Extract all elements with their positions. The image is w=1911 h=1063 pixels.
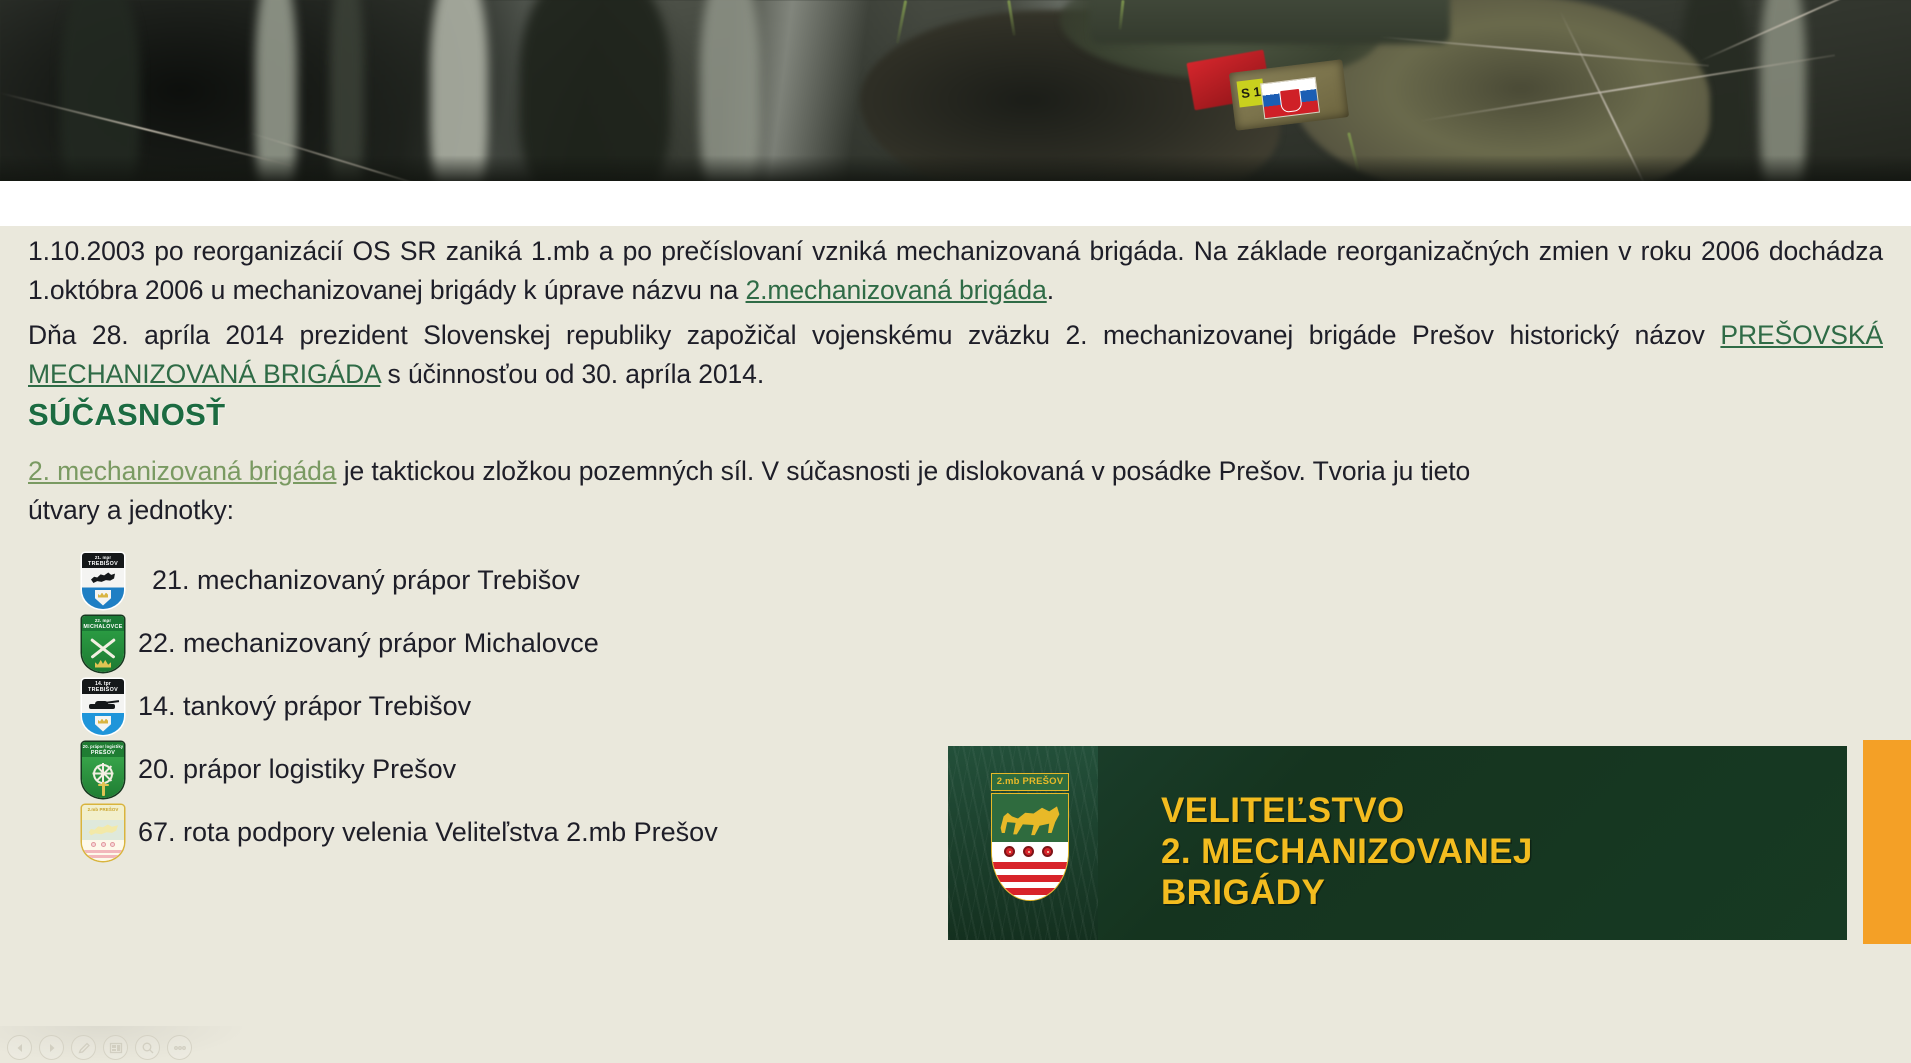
tree-trunk xyxy=(700,0,760,181)
hero-content-separator xyxy=(0,181,1911,226)
banner-veliteľstvo-2mb[interactable]: 2.mb PREŠOV VELITEĽSTVO 2. MECHANIZOVANE… xyxy=(948,746,1847,940)
paragraph-1-text-part-2: . xyxy=(1047,275,1054,305)
crest-icon xyxy=(95,716,111,732)
cog-wheel-icon xyxy=(93,764,113,784)
badge-21-mpr-trebisov-icon: 21. mprTREBIŠOV xyxy=(82,553,124,609)
link-2-mechanizovana-brigada-present[interactable]: 2. mechanizovaná brigáda xyxy=(28,456,336,486)
badge-22-mpr-michalovce-icon: 22. mprMICHALOVCE xyxy=(82,616,124,672)
more-icon[interactable] xyxy=(167,1035,192,1060)
banner-title-line-1: VELITEĽSTVO xyxy=(1161,790,1533,831)
tree-trunk xyxy=(60,0,140,181)
accent-orange-strip xyxy=(1863,740,1911,944)
badge-upper-field xyxy=(82,820,124,840)
paragraph-history-reorganisation: 1.10.2003 po reorganizácií OS SR zaniká … xyxy=(28,232,1883,310)
link-2-mechanizovana-brigada[interactable]: 2.mechanizovaná brigáda xyxy=(746,275,1047,305)
paragraph-present-day: 2. mechanizovaná brigáda je taktickou zl… xyxy=(28,452,1528,530)
back-icon[interactable] xyxy=(7,1035,32,1060)
badge-cap: 14. tprTREBIŠOV xyxy=(82,679,124,694)
badge-body xyxy=(82,568,124,609)
lynx-icon xyxy=(88,823,118,837)
sword-icon xyxy=(102,782,105,796)
badge-cap: 21. mprTREBIŠOV xyxy=(82,553,124,568)
banner-title-line-3: BRIGÁDY xyxy=(1161,872,1533,913)
list-item[interactable]: 20. prápor logistikyPREŠOV 20. prápor lo… xyxy=(82,738,982,801)
badge-14-tpr-trebisov-icon: 14. tprTREBIŠOV xyxy=(82,679,124,735)
paragraph-historical-name: Dňa 28. apríla 2014 prezident Slovenskej… xyxy=(28,316,1883,394)
unit-list: 21. mprTREBIŠOV 21. mechanizovaný prápor… xyxy=(82,549,982,864)
tree-trunk xyxy=(330,0,364,181)
forward-icon[interactable] xyxy=(39,1035,64,1060)
badge-cap: 20. prápor logistikyPREŠOV xyxy=(82,742,124,757)
unit-label: 21. mechanizovaný prápor Trebišov xyxy=(152,565,580,596)
badge-body xyxy=(82,757,124,798)
crest-caption: 2.mb PREŠOV xyxy=(991,773,1069,791)
rose-icon xyxy=(1042,846,1053,857)
search-icon[interactable] xyxy=(135,1035,160,1060)
paragraph-2-text-part-1: Dňa 28. apríla 2014 prezident Slovenskej… xyxy=(28,320,1720,350)
badge-body xyxy=(82,820,124,861)
banner-title-line-2: 2. MECHANIZOVANEJ xyxy=(1161,831,1533,872)
list-item[interactable]: 22. mprMICHALOVCE 22. mechanizovaný práp… xyxy=(82,612,982,675)
tree-trunk xyxy=(1760,0,1806,181)
crest-icon xyxy=(95,590,111,606)
tree-trunk xyxy=(430,0,488,181)
unit-label: 22. mechanizovaný prápor Michalovce xyxy=(138,628,599,659)
section-heading-sucasnost: SÚČASNOSŤ xyxy=(28,397,225,433)
crest-lower-field xyxy=(992,842,1068,901)
rose-icon xyxy=(110,842,115,847)
badge-lower-field xyxy=(82,840,124,861)
tree-trunk xyxy=(520,0,670,181)
rose-icon xyxy=(1023,846,1034,857)
paragraph-2-text-part-2: s účinnosťou od 30. apríla 2014. xyxy=(380,359,764,389)
badge-body xyxy=(82,694,124,735)
rose-icon xyxy=(101,842,106,847)
pencil-icon[interactable] xyxy=(71,1035,96,1060)
tree-trunk xyxy=(255,0,297,181)
badge-cap: 2.mb PREŠOV xyxy=(82,805,124,820)
floating-toolbar xyxy=(7,1035,192,1060)
badge-body xyxy=(82,631,124,672)
rose-icon xyxy=(91,842,96,847)
layout-icon[interactable] xyxy=(103,1035,128,1060)
crown-icon xyxy=(95,660,111,668)
slovak-flag-patch xyxy=(1260,77,1320,120)
tank-icon xyxy=(89,700,115,709)
hero-image: S 1 xyxy=(0,0,1911,181)
badge-67-rota-podpory-velenia-icon: 2.mb PREŠOV xyxy=(82,805,124,861)
unit-label: 14. tankový prápor Trebišov xyxy=(138,691,471,722)
crest-body xyxy=(991,793,1069,901)
page-root: S 1 1.10.2003 po reorganizácií OS SR zan… xyxy=(0,0,1911,1063)
hero-bottom-fade xyxy=(0,155,1911,181)
rose-icon xyxy=(1004,846,1015,857)
crest-2mb-presov-icon: 2.mb PREŠOV xyxy=(991,773,1069,901)
banner-title: VELITEĽSTVO 2. MECHANIZOVANEJ BRIGÁDY xyxy=(1161,790,1533,913)
badge-20-prapor-logistiky-presov-icon: 20. prápor logistikyPREŠOV xyxy=(82,742,124,798)
list-item[interactable]: 2.mb PREŠOV 67. rot xyxy=(82,801,982,864)
unit-label: 67. rota podpory velenia Veliteľstva 2.m… xyxy=(138,817,718,848)
list-item[interactable]: 21. mprTREBIŠOV 21. mechanizovaný prápor… xyxy=(82,549,982,612)
list-item[interactable]: 14. tprTREBIŠOV 14. tankový prápor Trebi… xyxy=(82,675,982,738)
unit-label: 20. prápor logistiky Prešov xyxy=(138,754,456,785)
wolf-icon xyxy=(91,572,115,585)
badge-cap: 22. mprMICHALOVCE xyxy=(82,616,124,631)
